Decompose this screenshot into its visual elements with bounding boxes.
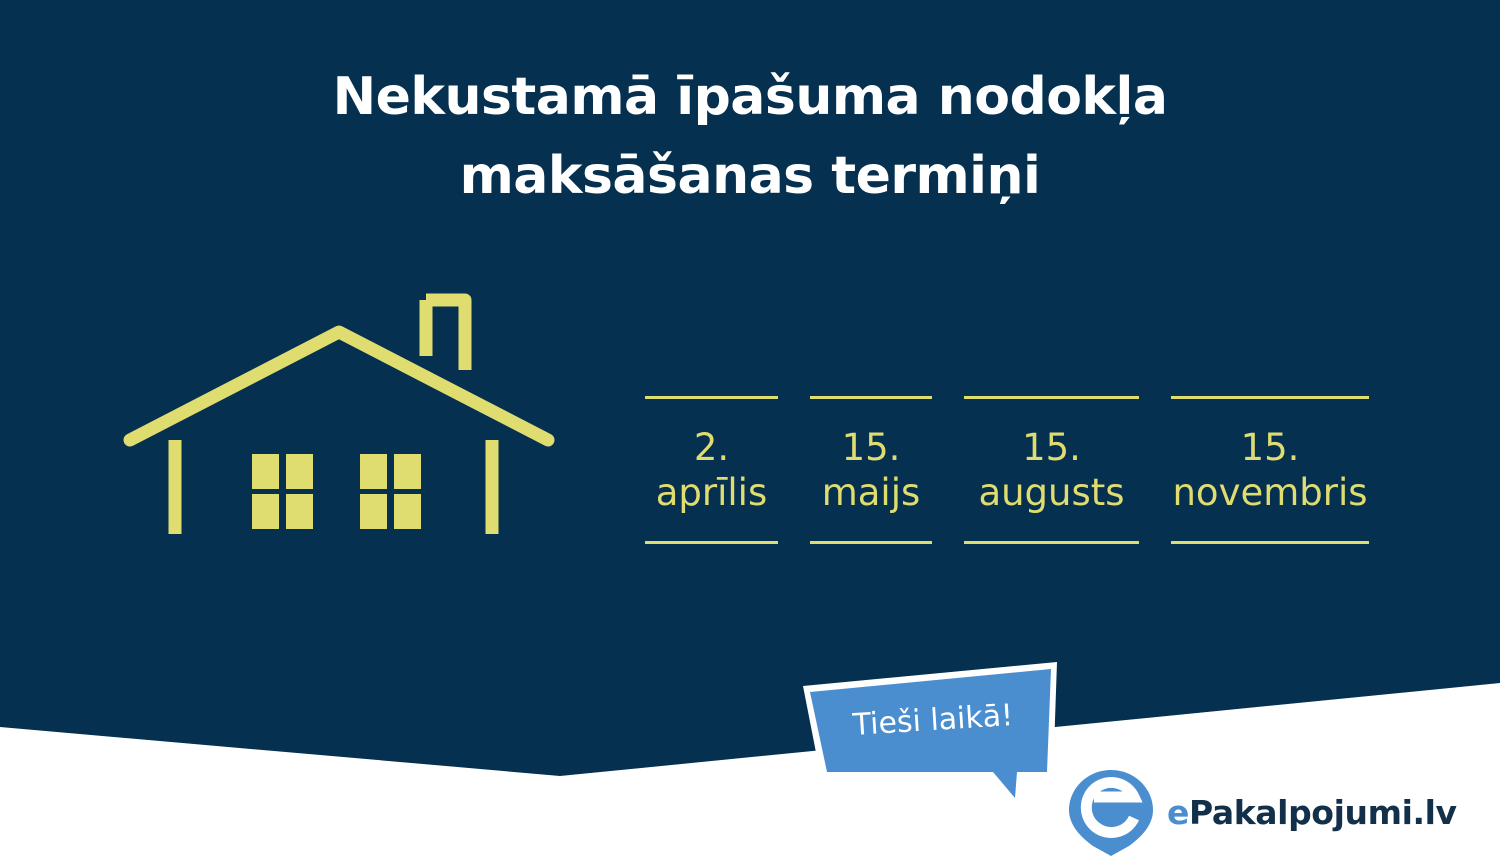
map-pin-e-logo-icon [1063,766,1159,858]
deadline-item: 15. maijs [810,396,932,544]
deadline-month: aprīlis [656,470,768,515]
deadline-day: 15. [842,425,901,470]
page-title: Nekustamā īpašuma nodokļa maksāšanas ter… [0,58,1500,216]
deadline-day: 2. [694,425,729,470]
poster-canvas: Nekustamā īpašuma nodokļa maksāšanas ter… [0,0,1500,860]
page-title-line-1: Nekustamā īpašuma nodokļa [0,58,1500,137]
house-icon [112,262,582,547]
brand-logo-text-prefix: e [1167,793,1189,832]
deadline-month: augusts [978,470,1124,515]
deadline-day: 15. [1241,425,1300,470]
deadline-item: 15. novembris [1171,396,1369,544]
deadline-day: 15. [1022,425,1081,470]
brand-logo[interactable]: ePakalpojumi.lv [1063,766,1433,858]
deadline-item: 15. augusts [964,396,1139,544]
brand-logo-text-rest: Pakalpojumi.lv [1189,793,1457,832]
brand-logo-text: ePakalpojumi.lv [1167,796,1457,829]
callout-bubble: Tieši laikā! [795,650,1070,810]
deadline-month: novembris [1172,470,1367,515]
page-title-line-2: maksāšanas termiņi [0,137,1500,216]
deadline-list: 2. aprīlis 15. maijs 15. augusts 15. nov… [645,396,1360,544]
deadline-item: 2. aprīlis [645,396,778,544]
deadline-month: maijs [822,470,921,515]
